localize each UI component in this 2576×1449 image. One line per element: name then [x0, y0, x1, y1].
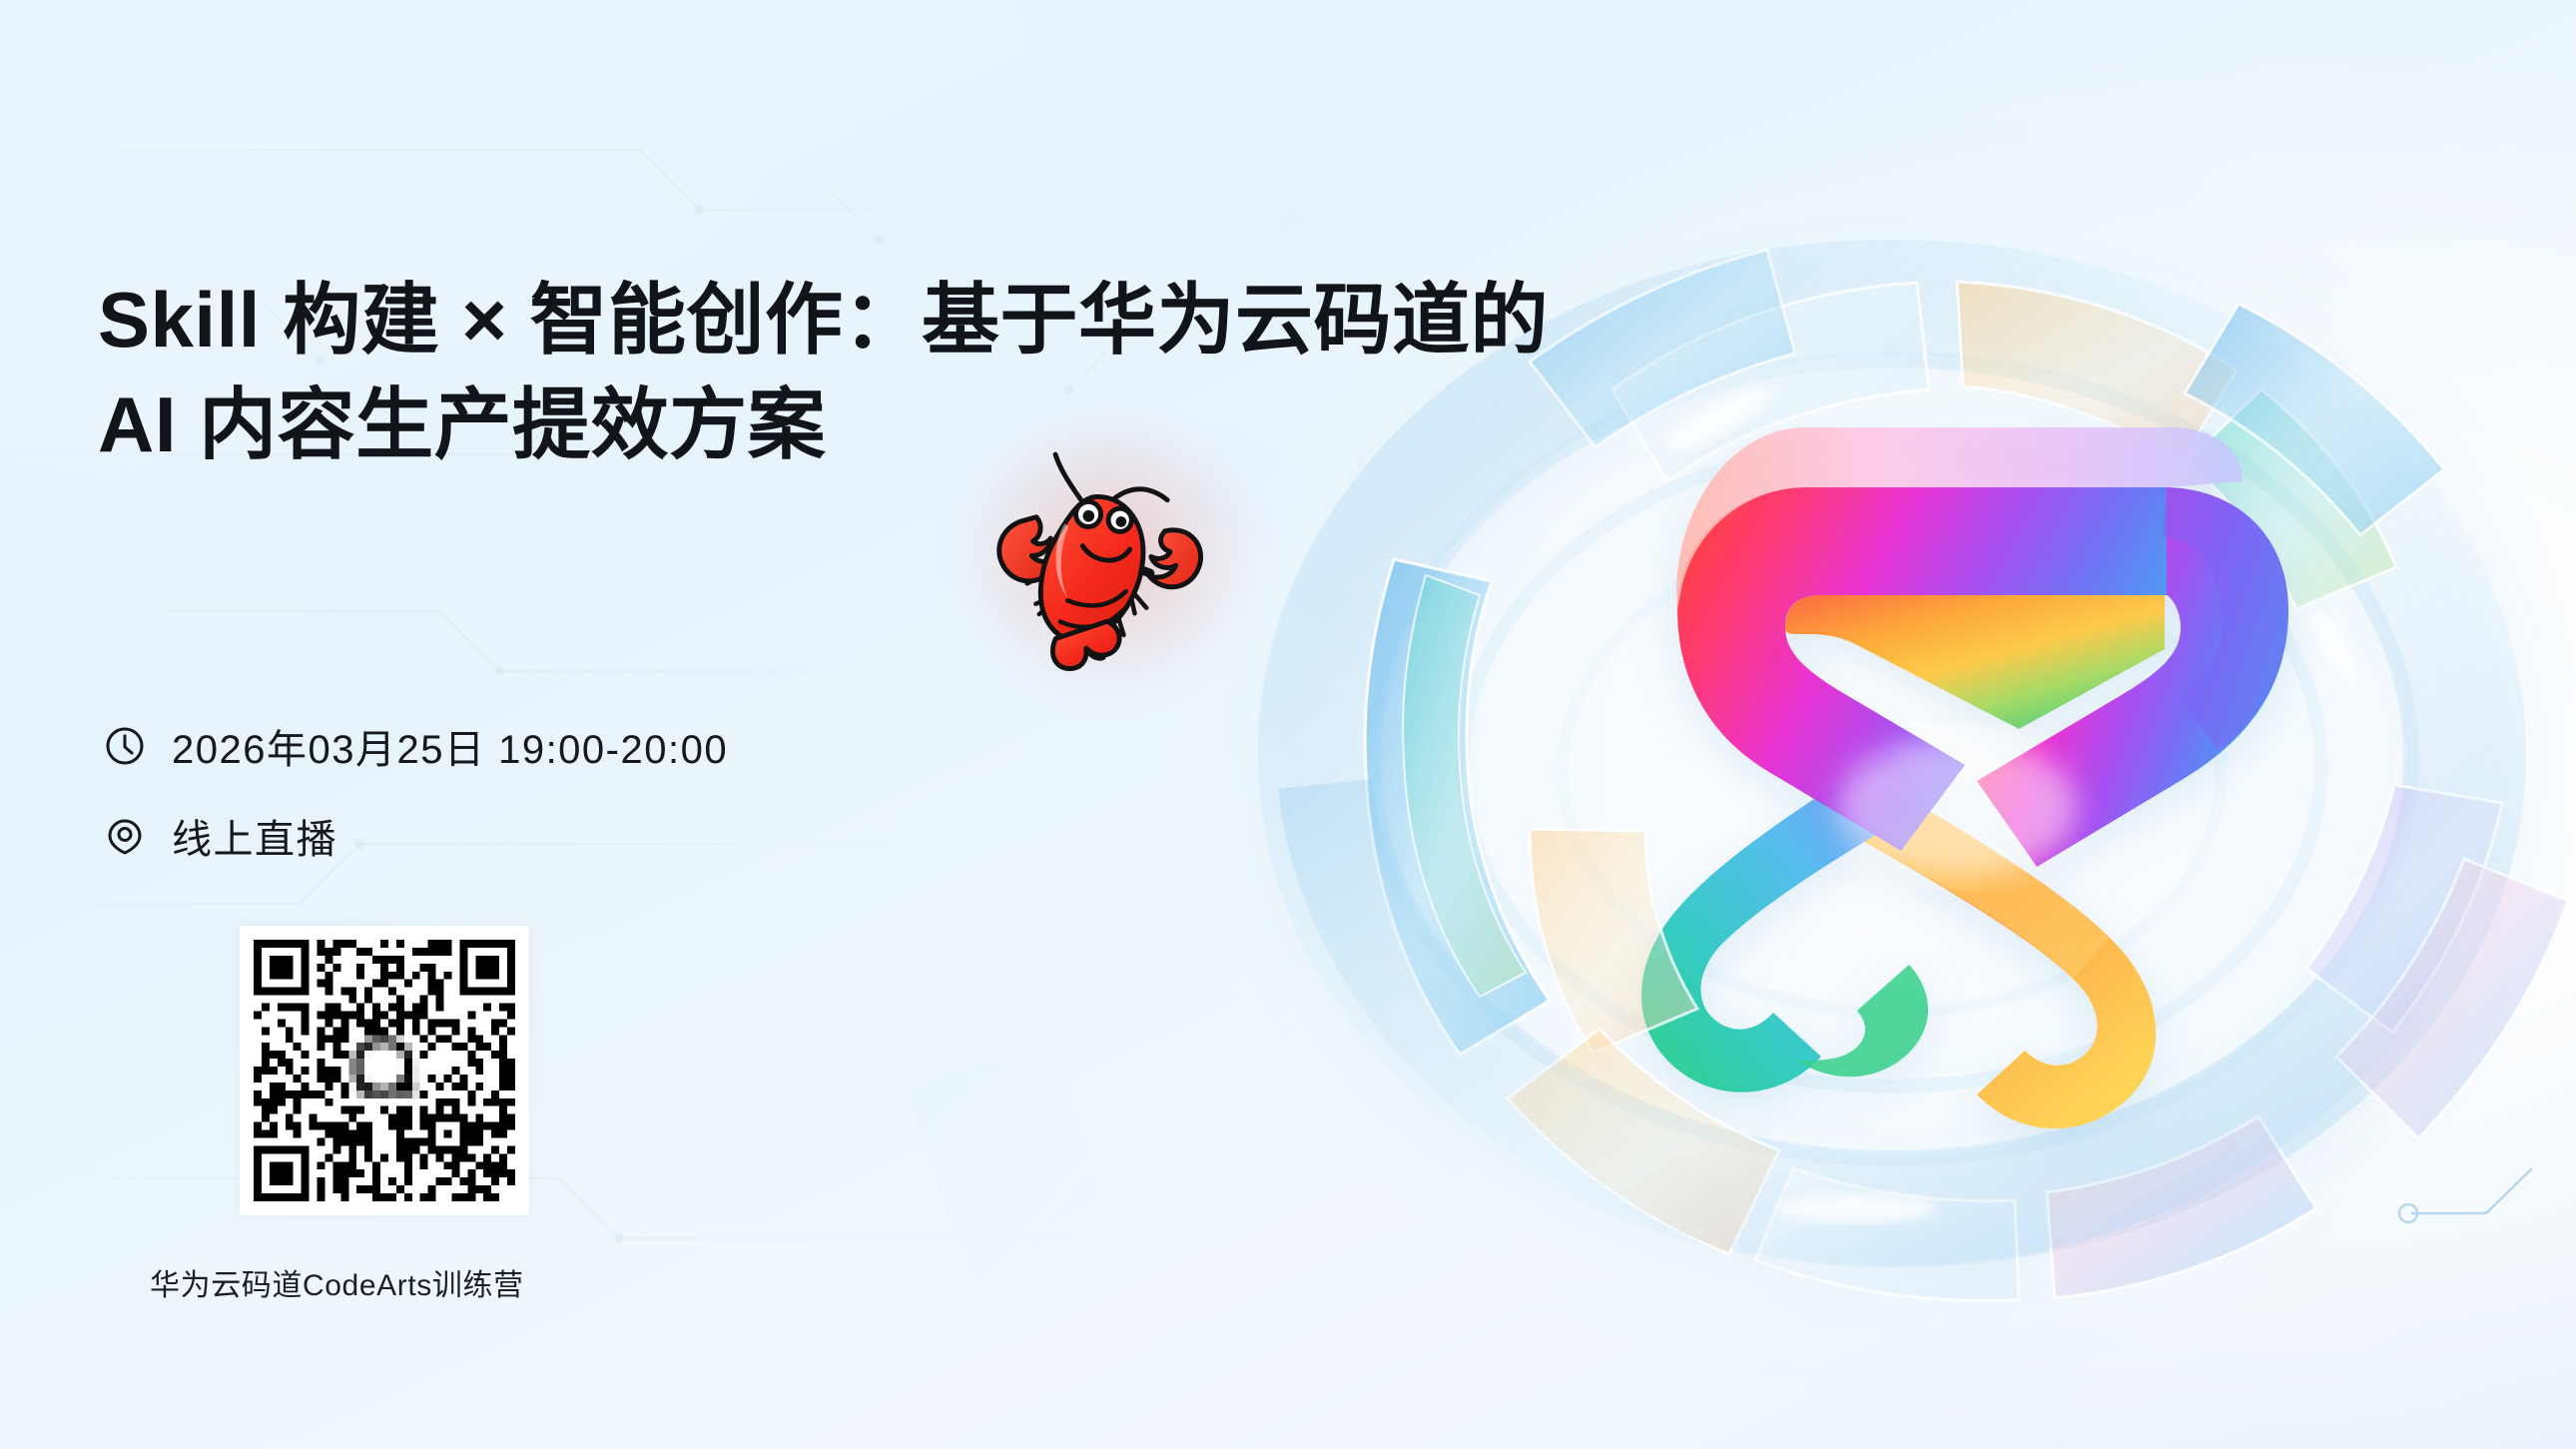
- page-title-line-1: Skill 构建 × 智能创作：基于华为云码道的: [98, 268, 1496, 372]
- promo-banner: Skill 构建 × 智能创作：基于华为云码道的 AI 内容生产提效方案: [0, 0, 2576, 1449]
- location-pin-icon: [104, 815, 146, 857]
- event-details: 2026年03月25日 19:00-20:00 线上直播: [104, 717, 728, 897]
- qr-code-canvas: [254, 940, 515, 1201]
- event-datetime-row: 2026年03月25日 19:00-20:00: [104, 717, 728, 775]
- event-location-text: 线上直播: [172, 807, 337, 865]
- qr-code[interactable]: [240, 926, 529, 1215]
- qr-caption: 华为云码道CodeArts训练营: [150, 1260, 524, 1304]
- title-block: Skill 构建 × 智能创作：基于华为云码道的 AI 内容生产提效方案: [98, 268, 1496, 476]
- page-title-line-2: AI 内容生产提效方案: [98, 372, 1496, 477]
- event-location-row: 线上直播: [104, 807, 728, 865]
- event-datetime-text: 2026年03月25日 19:00-20:00: [172, 717, 728, 775]
- lobster-sticker: [956, 411, 1241, 697]
- clock-icon: [104, 725, 146, 767]
